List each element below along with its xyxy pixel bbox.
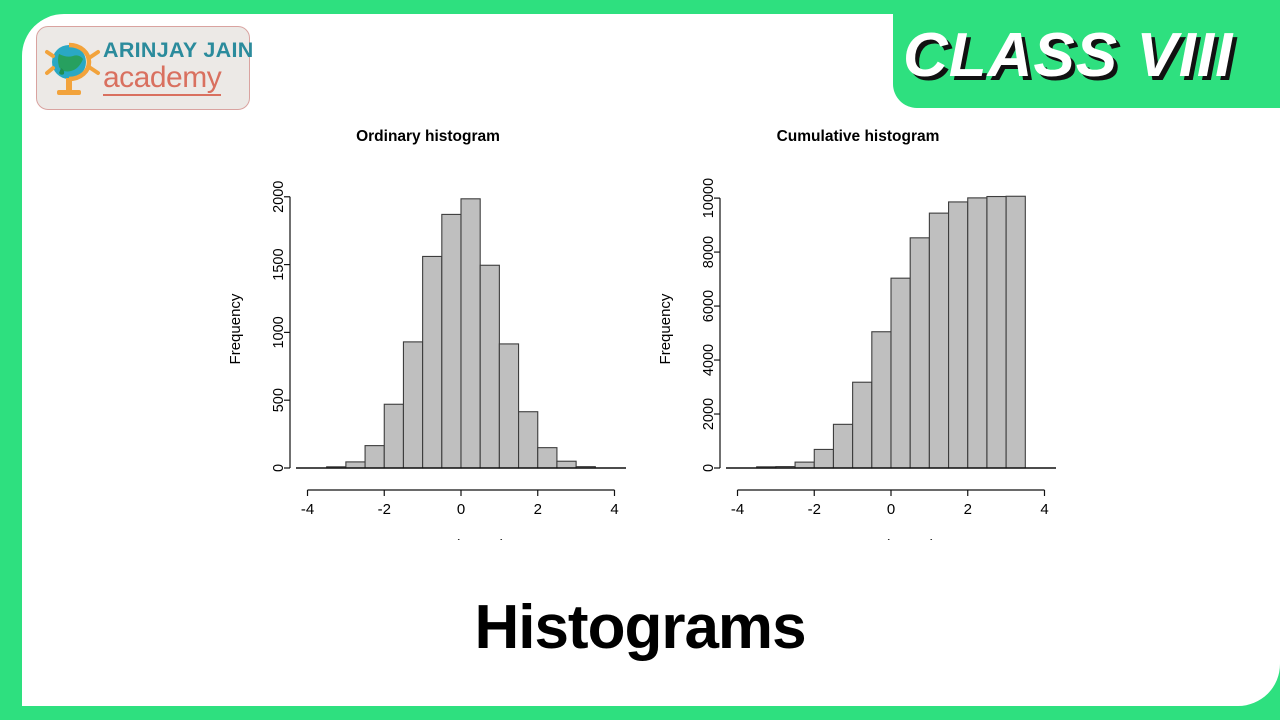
histogram-bar <box>1006 196 1025 468</box>
plot-area-ordinary: 0500100015002000Frequency-4-2024rnorm(10… <box>218 150 638 540</box>
plot-area-cumulative: 0200040006000800010000Frequency-4-2024rn… <box>648 150 1068 540</box>
y-axis-tick-label: 10000 <box>701 178 717 218</box>
globe-icon <box>45 34 101 102</box>
histogram-bar <box>833 424 852 468</box>
histogram-bar <box>365 446 384 468</box>
logo-line-1: ARINJAY JAIN <box>103 40 254 62</box>
histogram-bar <box>949 202 968 468</box>
x-axis-tick-label: -2 <box>808 501 821 518</box>
histogram-bar <box>557 461 576 468</box>
histogram-bar <box>538 448 557 468</box>
histogram-bar <box>814 449 833 468</box>
academy-logo: ARINJAY JAIN academy <box>36 26 250 110</box>
chart-title-cumulative: Cumulative histogram <box>648 128 1068 146</box>
histogram-bar <box>872 332 891 468</box>
histogram-bar <box>910 238 929 468</box>
slide-root: ARINJAY JAIN academy CLASS VIII Ordinary… <box>0 0 1280 720</box>
y-axis-tick-label: 4000 <box>701 344 717 376</box>
histogram-bar <box>423 256 442 468</box>
y-axis-tick-label: 0 <box>701 464 717 472</box>
histogram-bar <box>891 278 910 468</box>
x-axis-tick-label: 2 <box>534 501 542 518</box>
chart-cumulative-histogram: Cumulative histogram 0200040006000800010… <box>648 128 1068 538</box>
y-axis-tick-label: 8000 <box>701 236 717 268</box>
y-axis-tick-label: 1500 <box>271 248 287 280</box>
histogram-bar <box>384 404 403 468</box>
slide-title: Histograms <box>0 592 1280 663</box>
x-axis-tick-label: 4 <box>1040 501 1048 518</box>
x-axis-tick-label: 2 <box>964 501 972 518</box>
histogram-bar <box>346 462 365 468</box>
bars-group <box>757 196 1026 468</box>
x-axis-tick-label: -2 <box>378 501 391 518</box>
class-banner-label: CLASS VIII <box>903 20 1233 91</box>
x-axis-tick-label: 0 <box>457 501 465 518</box>
histogram-bar <box>987 197 1006 468</box>
x-axis-tick-label: 4 <box>610 501 618 518</box>
bars-group <box>327 199 596 468</box>
y-axis-tick-label: 6000 <box>701 290 717 322</box>
histogram-bar <box>499 344 518 468</box>
histogram-bar <box>480 265 499 468</box>
x-axis-tick-label: -4 <box>301 501 314 518</box>
y-axis-label: Frequency <box>227 293 244 364</box>
x-axis-label: rnorm(10000) <box>847 538 935 540</box>
histogram-bar <box>403 342 422 468</box>
y-axis-tick-label: 2000 <box>701 398 717 430</box>
histogram-bar <box>461 199 480 468</box>
y-axis-tick-label: 0 <box>271 464 287 472</box>
y-axis-tick-label: 2000 <box>271 181 287 213</box>
chart-ordinary-histogram: Ordinary histogram 0500100015002000Frequ… <box>218 128 638 538</box>
y-axis-label: Frequency <box>657 293 674 364</box>
logo-text: ARINJAY JAIN academy <box>103 40 254 96</box>
histogram-bar <box>519 412 538 468</box>
histogram-bar <box>442 214 461 468</box>
x-axis-label: rnorm(10000) <box>417 538 505 540</box>
chart-title-ordinary: Ordinary histogram <box>218 128 638 146</box>
y-axis-tick-label: 500 <box>271 388 287 412</box>
histogram-bar <box>853 382 872 468</box>
logo-line-2: academy <box>103 63 221 96</box>
x-axis-tick-label: -4 <box>731 501 744 518</box>
histogram-bar <box>929 213 948 468</box>
histogram-bar <box>968 198 987 468</box>
class-banner: CLASS VIII <box>893 0 1280 108</box>
x-axis-tick-label: 0 <box>887 501 895 518</box>
histogram-bar <box>795 462 814 468</box>
y-axis-tick-label: 1000 <box>271 316 287 348</box>
